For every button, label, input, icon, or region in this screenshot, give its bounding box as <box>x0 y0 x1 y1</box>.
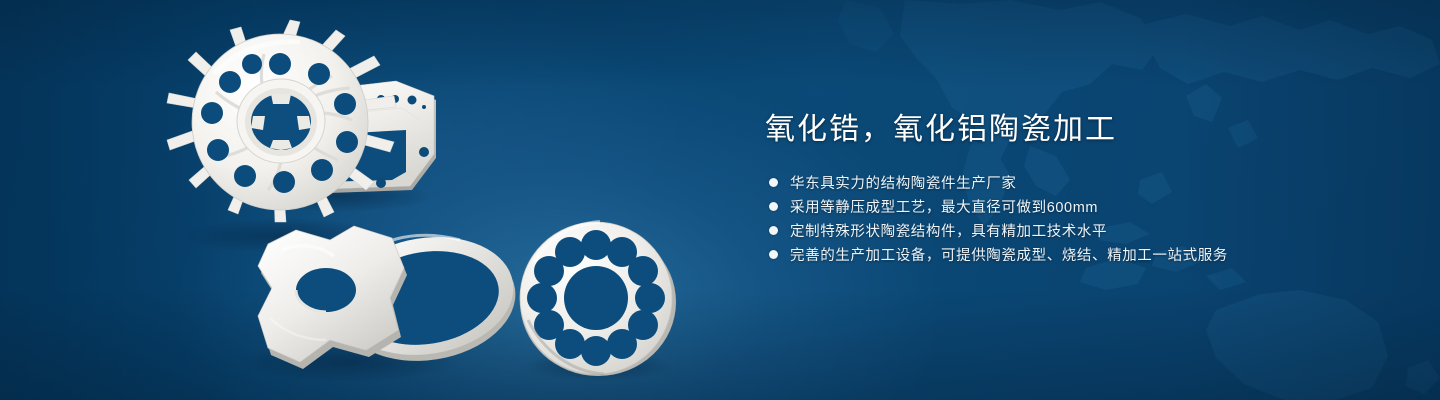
ceramic-products-photo <box>0 0 720 400</box>
list-item: 定制特殊形状陶瓷结构件，具有精加工技术水平 <box>769 218 1325 242</box>
list-item-label: 采用等静压成型工艺，最大直径可做到600mm <box>790 196 1098 217</box>
page-title: 氧化锆，氧化铝陶瓷加工 <box>765 112 1325 148</box>
bullet-dot-icon <box>769 250 778 259</box>
banner-text-column: 氧化锆，氧化铝陶瓷加工 华东具实力的结构陶瓷件生产厂家 采用等静压成型工艺，最大… <box>765 112 1325 266</box>
list-item-label: 华东具实力的结构陶瓷件生产厂家 <box>790 172 1017 193</box>
list-item-label: 定制特殊形状陶瓷结构件，具有精加工技术水平 <box>790 220 1107 241</box>
ceramic-products-banner: 氧化锆，氧化铝陶瓷加工 华东具实力的结构陶瓷件生产厂家 采用等静压成型工艺，最大… <box>0 0 1440 400</box>
ceramic-perforated-ring-disc <box>520 222 676 376</box>
feature-list: 华东具实力的结构陶瓷件生产厂家 采用等静压成型工艺，最大直径可做到600mm 定… <box>765 170 1325 266</box>
list-item: 采用等静压成型工艺，最大直径可做到600mm <box>769 194 1325 218</box>
bullet-dot-icon <box>769 226 778 235</box>
list-item: 完善的生产加工设备，可提供陶瓷成型、烧结、精加工一站式服务 <box>769 242 1325 266</box>
list-item-label: 完善的生产加工设备，可提供陶瓷成型、烧结、精加工一站式服务 <box>790 244 1228 265</box>
bullet-dot-icon <box>769 202 778 211</box>
bullet-dot-icon <box>769 178 778 187</box>
list-item: 华东具实力的结构陶瓷件生产厂家 <box>769 170 1325 194</box>
